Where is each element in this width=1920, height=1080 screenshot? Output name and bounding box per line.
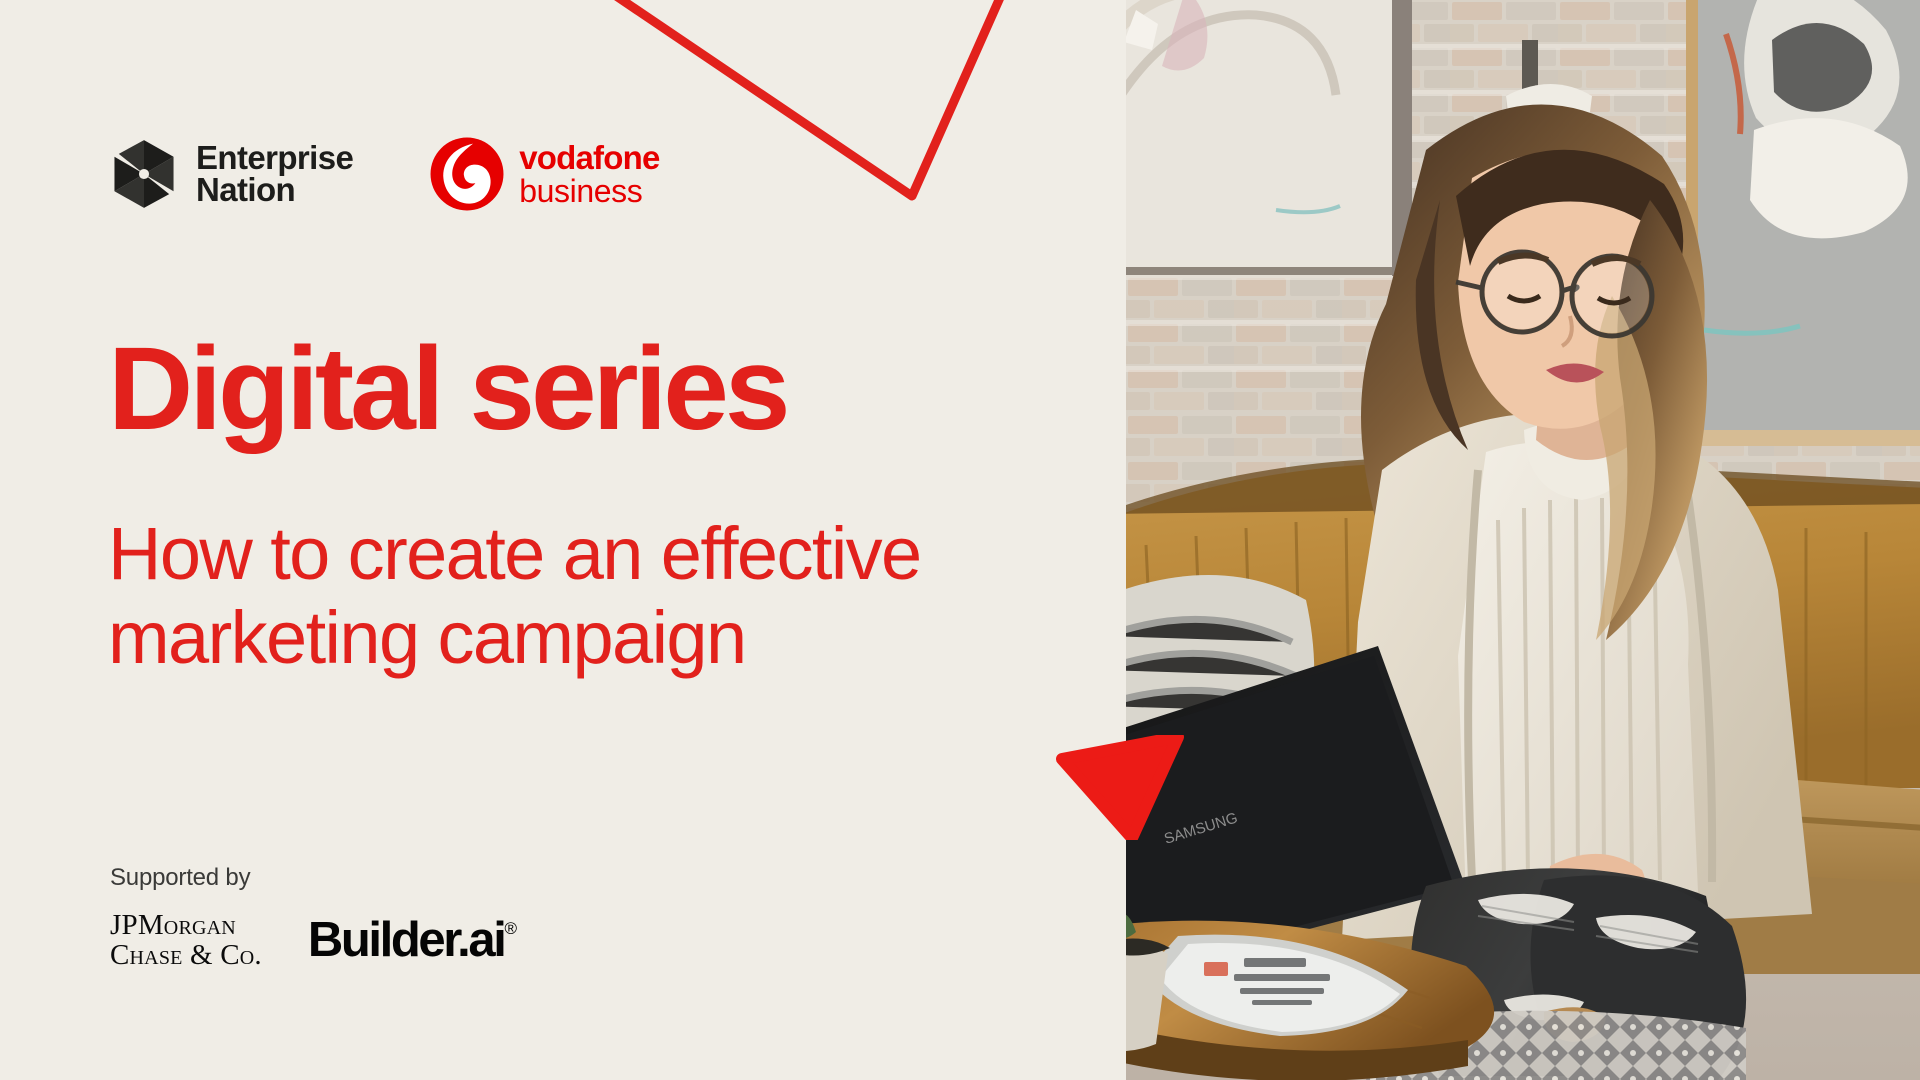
page-subtitle-line1: How to create an effective (108, 512, 921, 596)
vodafone-word: vodafone (519, 141, 659, 175)
registered-trademark-icon: ® (504, 920, 517, 937)
vodafone-wordmark: vodafone business (519, 141, 659, 207)
enterprise-nation-line1: Enterprise (196, 142, 353, 174)
hero-photo: SAMSUNG (1126, 0, 1920, 1080)
enterprise-nation-line2: Nation (196, 174, 353, 206)
hero-photo-illustration: SAMSUNG (1126, 0, 1920, 1080)
jpmorgan-line1: JPMorgan (110, 910, 262, 940)
vodafone-business-logo[interactable]: vodafone business (429, 136, 659, 212)
vodafone-speechmark-icon (429, 136, 505, 212)
supporters-block: Supported by JPMorgan Chase & Co. Builde… (110, 864, 517, 970)
page-title: Digital series (108, 330, 787, 448)
sponsor-logo-row: JPMorgan Chase & Co. Builder.ai ® (110, 910, 517, 970)
vodafone-business-word: business (519, 175, 659, 208)
builder-ai-logo[interactable]: Builder.ai ® (308, 916, 517, 965)
jpmorgan-line2: Chase & Co. (110, 940, 262, 970)
enterprise-nation-wordmark: Enterprise Nation (196, 142, 353, 206)
jpmorgan-chase-logo[interactable]: JPMorgan Chase & Co. (110, 910, 262, 970)
supported-by-label: Supported by (110, 864, 517, 892)
presentation-slide: SAMSUNG (0, 0, 1920, 1080)
builder-ai-wordmark: Builder.ai (308, 916, 505, 965)
enterprise-nation-logo[interactable]: Enterprise Nation (108, 138, 353, 210)
red-triangle-marker-icon (1056, 735, 1186, 840)
page-subtitle-line2: marketing campaign (108, 596, 921, 680)
logo-row: Enterprise Nation vodafone business (108, 136, 660, 212)
page-subtitle: How to create an effective marketing cam… (108, 512, 921, 681)
content-panel: Enterprise Nation vodafone business Digi… (0, 0, 1126, 1080)
hexagon-pinwheel-icon (108, 138, 180, 210)
